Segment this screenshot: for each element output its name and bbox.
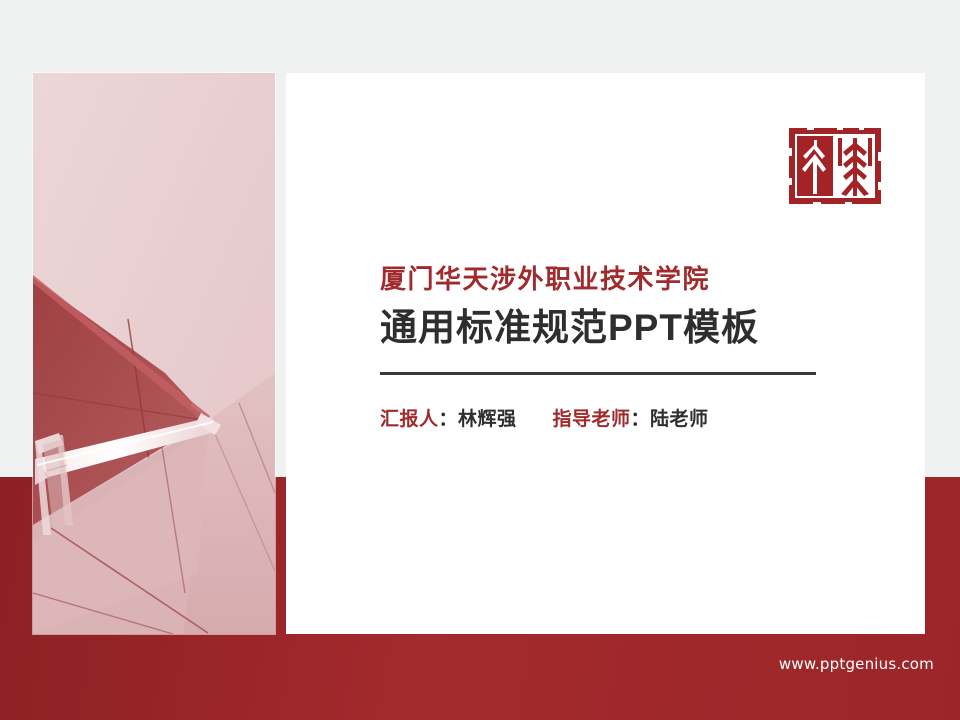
presenter-name: ：林辉强 — [439, 409, 517, 430]
photo-graphic — [33, 73, 275, 634]
title-text-block: 厦门华天涉外职业技术学院 通用标准规范PPT模板 汇报人：林辉强 指导老师：陆老… — [380, 263, 860, 431]
page-title: 通用标准规范PPT模板 — [380, 305, 860, 350]
meta-row: 汇报人：林辉强 指导老师：陆老师 — [380, 404, 860, 431]
seal-logo-graphic — [785, 122, 885, 210]
advisor-label: 指导老师 — [553, 409, 631, 430]
institution-name: 厦门华天涉外职业技术学院 — [380, 263, 860, 296]
presenter-field: 汇报人：林辉强 — [380, 404, 517, 431]
advisor-field: 指导老师：陆老师 — [553, 404, 709, 431]
advisor-name: ：陆老师 — [631, 409, 709, 430]
presenter-label: 汇报人 — [380, 409, 439, 430]
footer-website-url[interactable]: www.pptgenius.com — [779, 655, 934, 673]
content-card: 厦门华天涉外职业技术学院 通用标准规范PPT模板 汇报人：林辉强 指导老师：陆老… — [286, 73, 925, 634]
title-divider — [380, 372, 816, 375]
seal-stamp-logo-icon — [785, 122, 885, 210]
presentation-slide: www.pptgenius.com — [0, 0, 960, 720]
architectural-ceiling-photo — [33, 73, 275, 634]
